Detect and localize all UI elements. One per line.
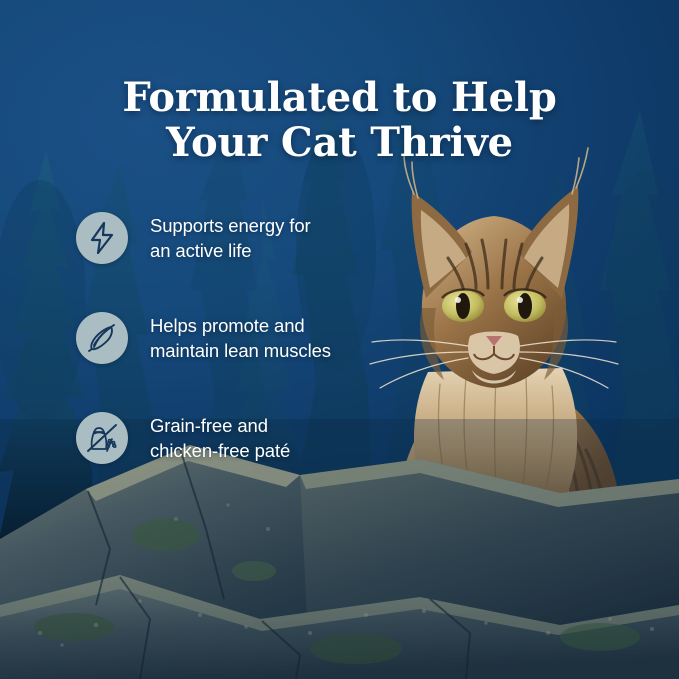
feature-muscles-line-1: Helps promote and [150, 313, 331, 338]
feature-text-grain-free: Grain-free and chicken-free paté [150, 413, 290, 463]
feature-grain-free-line-2: chicken-free paté [150, 438, 290, 463]
feature-item-muscles: Helps promote and maintain lean muscles [76, 288, 366, 388]
page-title: Formulated to Help Your Cat Thrive [0, 75, 679, 165]
headline-line-1: Formulated to Help [0, 75, 679, 120]
feature-text-energy: Supports energy for an active life [150, 213, 311, 263]
feature-grain-free-line-1: Grain-free and [150, 413, 290, 438]
headline-line-2: Your Cat Thrive [0, 120, 679, 165]
feature-list: Supports energy for an active life Helps [76, 188, 366, 488]
no-grain-icon [76, 412, 128, 464]
feature-item-grain-free: Grain-free and chicken-free paté [76, 388, 366, 488]
product-feature-poster: Formulated to Help Your Cat Thrive Suppo… [0, 0, 679, 679]
feature-energy-line-1: Supports energy for [150, 213, 311, 238]
muscle-icon [76, 312, 128, 364]
feature-text-muscles: Helps promote and maintain lean muscles [150, 313, 331, 363]
feature-muscles-line-2: maintain lean muscles [150, 338, 331, 363]
lightning-bolt-icon [76, 212, 128, 264]
feature-item-energy: Supports energy for an active life [76, 188, 366, 288]
feature-energy-line-2: an active life [150, 238, 311, 263]
